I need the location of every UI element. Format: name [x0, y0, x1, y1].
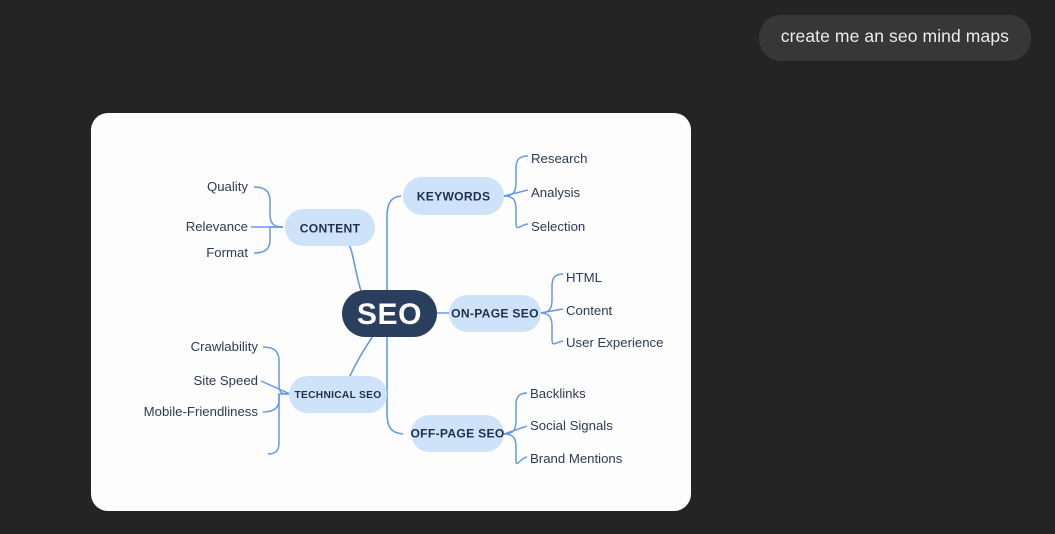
branch-keywords[interactable]: KEYWORDS Research Analysis Selection — [403, 151, 587, 234]
leaf-connector — [540, 313, 563, 344]
leaf-connector — [504, 434, 527, 464]
branch-technical-leaf-connectors — [261, 347, 290, 454]
leaf-label: Quality — [207, 179, 248, 194]
leaf-connector — [540, 309, 563, 313]
connector-center-keywords — [387, 196, 401, 299]
leaf-label: Format — [206, 245, 248, 260]
leaf-connector — [263, 394, 290, 412]
leaf-label: Site Speed — [193, 373, 258, 388]
chat-message-row: create me an seo mind maps — [0, 0, 1055, 61]
mindmap-card[interactable]: CONTENT Quality Relevance Format KEYWORD… — [91, 113, 691, 511]
branch-label: KEYWORDS — [417, 190, 491, 204]
leaf-connector — [254, 187, 283, 227]
branch-label: CONTENT — [300, 222, 361, 236]
branch-label: ON-PAGE SEO — [451, 307, 539, 321]
branch-offpage-leaf-connectors — [504, 393, 527, 464]
leaf-connector — [268, 394, 279, 454]
leaf-label: Relevance — [186, 219, 248, 234]
center-node-label: SEO — [357, 298, 422, 331]
leaf-label: Mobile-Friendliness — [144, 404, 259, 419]
branch-onpage-seo[interactable]: ON-PAGE SEO HTML Content User Experience — [449, 270, 663, 350]
leaf-label: Analysis — [531, 185, 581, 200]
leaf-label: Content — [566, 303, 613, 318]
leaf-connector — [504, 156, 528, 196]
leaf-connector — [504, 196, 528, 228]
branch-technical-seo[interactable]: TECHNICAL SEO Crawlability Site Speed Mo… — [144, 339, 387, 454]
branch-offpage-seo[interactable]: OFF-PAGE SEO Backlinks Social Signals Br… — [410, 386, 622, 466]
leaf-label: Brand Mentions — [530, 451, 623, 466]
branch-content[interactable]: CONTENT Quality Relevance Format — [186, 179, 375, 260]
branch-content-leaf-connectors — [251, 187, 283, 253]
leaf-label: Backlinks — [530, 386, 586, 401]
app-root: create me an seo mind maps — [0, 0, 1055, 534]
leaf-connector — [261, 381, 290, 394]
leaf-label: User Experience — [566, 335, 663, 350]
leaf-label: Crawlability — [191, 339, 259, 354]
leaf-connector — [540, 274, 563, 313]
leaf-connector — [254, 227, 283, 253]
mindmap-svg: CONTENT Quality Relevance Format KEYWORD… — [91, 113, 691, 511]
leaf-label: Selection — [531, 219, 585, 234]
leaf-label: Social Signals — [530, 418, 613, 433]
user-message-bubble: create me an seo mind maps — [759, 15, 1031, 61]
leaf-label: Research — [531, 151, 587, 166]
connector-center-offpage — [387, 337, 403, 434]
leaf-label: HTML — [566, 270, 602, 285]
branch-label: OFF-PAGE SEO — [410, 427, 504, 441]
leaf-connector — [504, 190, 528, 196]
branch-onpage-leaf-connectors — [540, 274, 563, 344]
center-node[interactable]: SEO — [342, 290, 437, 337]
leaf-connector — [263, 347, 290, 394]
branch-label: TECHNICAL SEO — [295, 390, 382, 401]
branch-keywords-leaf-connectors — [504, 156, 528, 228]
